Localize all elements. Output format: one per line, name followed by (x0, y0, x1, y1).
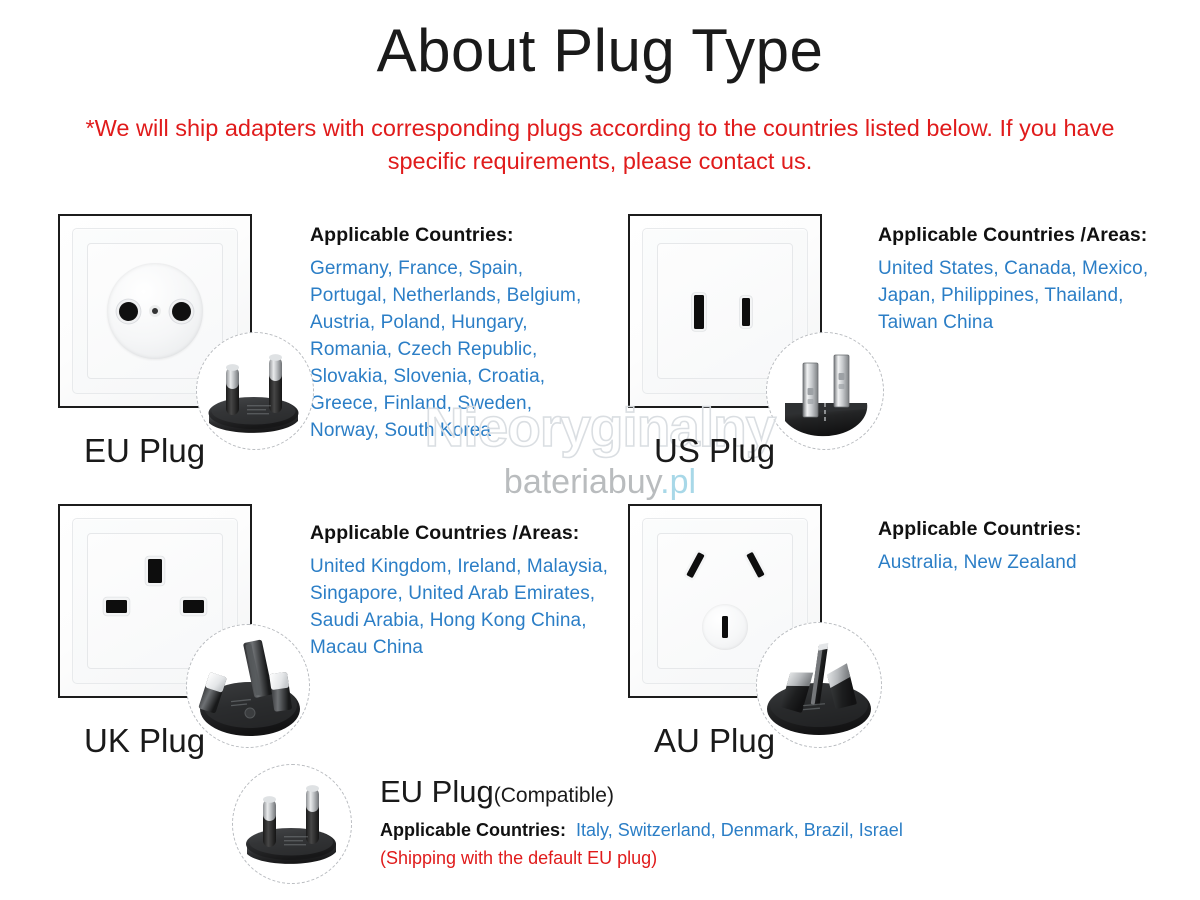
plug-block-us: US Plug (628, 214, 822, 408)
countries-block-au: Applicable Countries: Australia, New Zea… (878, 518, 1178, 577)
plug-type-infographic: About Plug Type *We will ship adapters w… (0, 0, 1200, 900)
us-slot-live (742, 298, 750, 326)
compatible-title-main: EU Plug (380, 774, 494, 809)
compatible-title-suffix: (Compatible) (494, 784, 614, 807)
uk-slot-neutral (183, 600, 204, 613)
shipping-notice: *We will ship adapters with correspondin… (60, 112, 1140, 179)
plug-caption-uk: UK Plug (84, 722, 205, 760)
compatible-countries-list: Italy, Switzerland, Denmark, Brazil, Isr… (576, 820, 903, 840)
eu-earth-pin (152, 308, 158, 314)
countries-heading-au: Applicable Countries: (878, 518, 1178, 541)
plug-caption-us: US Plug (654, 432, 775, 470)
countries-list-us: United States, Canada, Mexico, Japan, Ph… (878, 256, 1178, 337)
watermark-site-name: bateriabuy (504, 463, 660, 501)
compatible-title: EU Plug(Compatible) (380, 776, 1020, 807)
eu-compatible-plug-photo-icon (232, 764, 352, 884)
plug-block-uk: UK Plug (58, 504, 252, 698)
au-slot-neutral (746, 552, 764, 578)
countries-block-us: Applicable Countries /Areas: United Stat… (878, 224, 1178, 337)
countries-list-au: Australia, New Zealand (878, 550, 1178, 577)
page-title: About Plug Type (0, 18, 1200, 84)
plug-caption-au: AU Plug (654, 722, 775, 760)
plug-block-au: AU Plug (628, 504, 822, 698)
compatible-shipping-note: (Shipping with the default EU plug) (380, 848, 1020, 869)
us-plug-photo-icon (766, 332, 884, 450)
au-earth-recess (702, 604, 748, 650)
countries-heading-uk: Applicable Countries /Areas: (310, 522, 610, 545)
uk-slot-earth (148, 559, 162, 583)
countries-heading-eu: Applicable Countries: (310, 224, 600, 247)
au-slot-active (686, 552, 704, 578)
watermark-sub-text: bateriabuy.pl (0, 465, 1200, 499)
plug-block-eu: EU Plug (58, 214, 252, 408)
uk-slot-live (106, 600, 127, 613)
eu-plug-photo-icon (196, 332, 314, 450)
plug-caption-eu: EU Plug (84, 432, 205, 470)
eu-pin-hole-right (172, 302, 191, 321)
countries-block-eu: Applicable Countries: Germany, France, S… (310, 224, 600, 445)
eu-round-recess (107, 263, 203, 359)
countries-list-eu: Germany, France, Spain, Portugal, Nether… (310, 256, 600, 445)
compatible-text-group: EU Plug(Compatible) Applicable Countries… (380, 776, 1020, 869)
au-slot-earth (722, 616, 728, 638)
us-slot-neutral (694, 295, 704, 329)
countries-block-uk: Applicable Countries /Areas: United King… (310, 522, 610, 662)
compatible-countries-label: Applicable Countries: (380, 820, 566, 840)
eu-pin-hole-left (119, 302, 138, 321)
countries-list-uk: United Kingdom, Ireland, Malaysia, Singa… (310, 554, 610, 662)
compatible-countries-line: Applicable Countries: Italy, Switzerland… (380, 818, 1020, 842)
countries-heading-us: Applicable Countries /Areas: (878, 224, 1178, 247)
